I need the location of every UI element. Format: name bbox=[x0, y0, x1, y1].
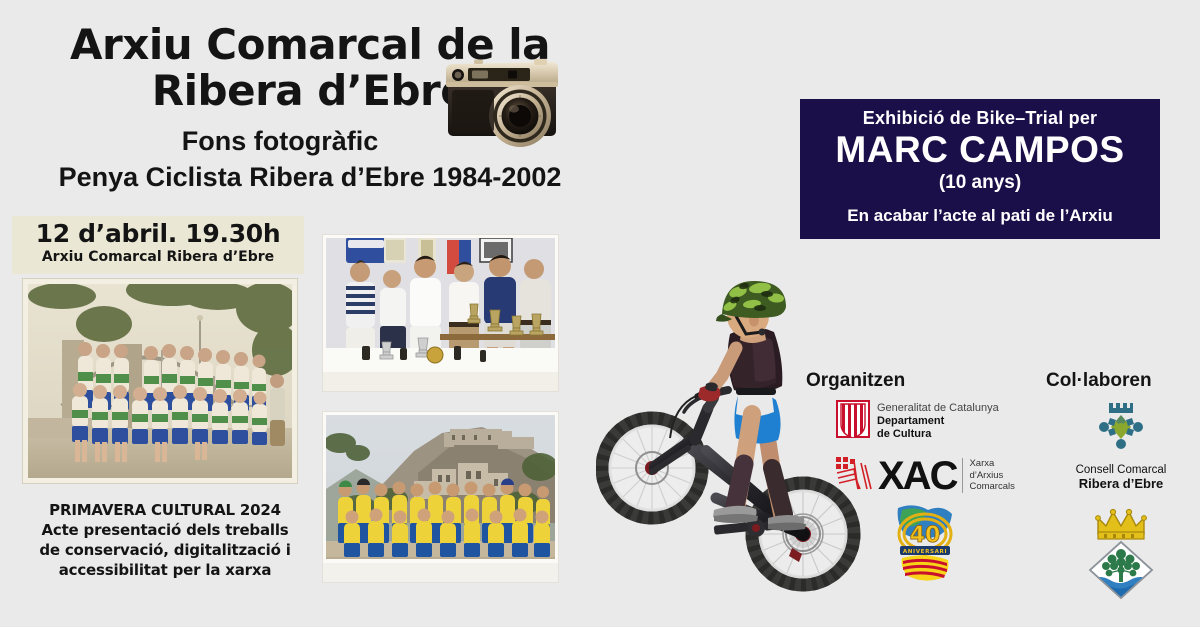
performer-name: MARC CAMPOS bbox=[800, 130, 1160, 170]
consell-comarcal-logo-text: Consell Comarcal Ribera d’Ebre bbox=[1046, 463, 1196, 492]
logo-xarxa-arxius-comarcals: XAC Xarxa d’Arxius Comarcals bbox=[834, 455, 1046, 496]
programme-name: PRIMAVERA CULTURAL 2024 bbox=[20, 500, 310, 520]
generalitat-line-1: Generalitat de Catalunya bbox=[877, 402, 999, 414]
logo-generalitat-de-catalunya: Generalitat de Catalunya Departament de … bbox=[836, 400, 1046, 443]
photo-club-members-trophies bbox=[322, 234, 559, 392]
organizers-heading: Organitzen bbox=[806, 370, 1046, 392]
anniversary-label: ANIVERSARI bbox=[903, 549, 947, 555]
generalitat-line-3: de Cultura bbox=[877, 428, 931, 440]
collection-name: Penya Ciclista Ribera d’Ebre 1984-2002 bbox=[0, 162, 620, 192]
logo-consell-comarcal-ribera-debre: Consell Comarcal Ribera d’Ebre bbox=[1046, 400, 1196, 492]
performer-age: (10 anys) bbox=[800, 171, 1160, 194]
municipal-shield-icon bbox=[1078, 587, 1164, 604]
photo-yellow-jersey-group-castle bbox=[322, 411, 559, 583]
consell-line-2: Ribera d’Ebre bbox=[1079, 476, 1164, 491]
event-date-time: 12 d’abril. 19.30h bbox=[12, 219, 304, 248]
description-line-3: accessibilitat per la xarxa bbox=[20, 560, 310, 580]
event-venue: Arxiu Comarcal Ribera d’Ebre bbox=[12, 248, 304, 267]
xac-mark-icon bbox=[834, 455, 872, 496]
bike-trial-highlight-box: Exhibició de Bike–Trial per MARC CAMPOS … bbox=[800, 99, 1160, 239]
consell-line-1: Consell Comarcal bbox=[1076, 464, 1167, 476]
poster-root: Arxiu Comarcal de la Ribera d’Ebre Fons … bbox=[0, 0, 1200, 627]
date-banner: 12 d’abril. 19.30h Arxiu Comarcal Ribera… bbox=[12, 216, 304, 274]
xac-acronym: XAC bbox=[878, 456, 956, 496]
collaborators-block: Col·laboren bbox=[1046, 370, 1196, 605]
collaborators-heading: Col·laboren bbox=[1046, 370, 1196, 392]
anniversary-number: 40 bbox=[910, 523, 941, 548]
logo-40-aniversari: 40 ANIVERSARI 1984-2024 bbox=[884, 500, 1046, 587]
generalitat-shield-icon bbox=[836, 400, 870, 443]
xac-line-2: d’Arxius bbox=[969, 470, 1003, 481]
xac-line-1: Xarxa bbox=[969, 458, 994, 469]
bike-trial-location-note: En acabar l’acte al pati de l’Arxiu bbox=[800, 205, 1160, 226]
bike-trial-intro: Exhibició de Bike–Trial per bbox=[800, 107, 1160, 129]
xac-line-3: Comarcals bbox=[969, 481, 1014, 492]
consell-comarcal-mark-icon bbox=[1090, 443, 1152, 460]
description-line-1: Acte presentació dels treballs bbox=[20, 520, 310, 540]
vintage-camera-icon bbox=[438, 52, 566, 152]
organizers-block: Organitzen bbox=[806, 370, 1046, 587]
xac-subtitle: Xarxa d’Arxius Comarcals bbox=[962, 458, 1014, 493]
logo-municipal-coat-of-arms bbox=[1046, 504, 1196, 605]
description-line-2: de conservació, digitalització i bbox=[20, 540, 310, 560]
bottom-description-text: PRIMAVERA CULTURAL 2024 Acte presentació… bbox=[20, 500, 310, 580]
photo-cycling-club-bridge bbox=[22, 278, 298, 484]
generalitat-logo-text: Generalitat de Catalunya Departament de … bbox=[877, 402, 999, 441]
generalitat-line-2: Departament bbox=[877, 415, 944, 427]
